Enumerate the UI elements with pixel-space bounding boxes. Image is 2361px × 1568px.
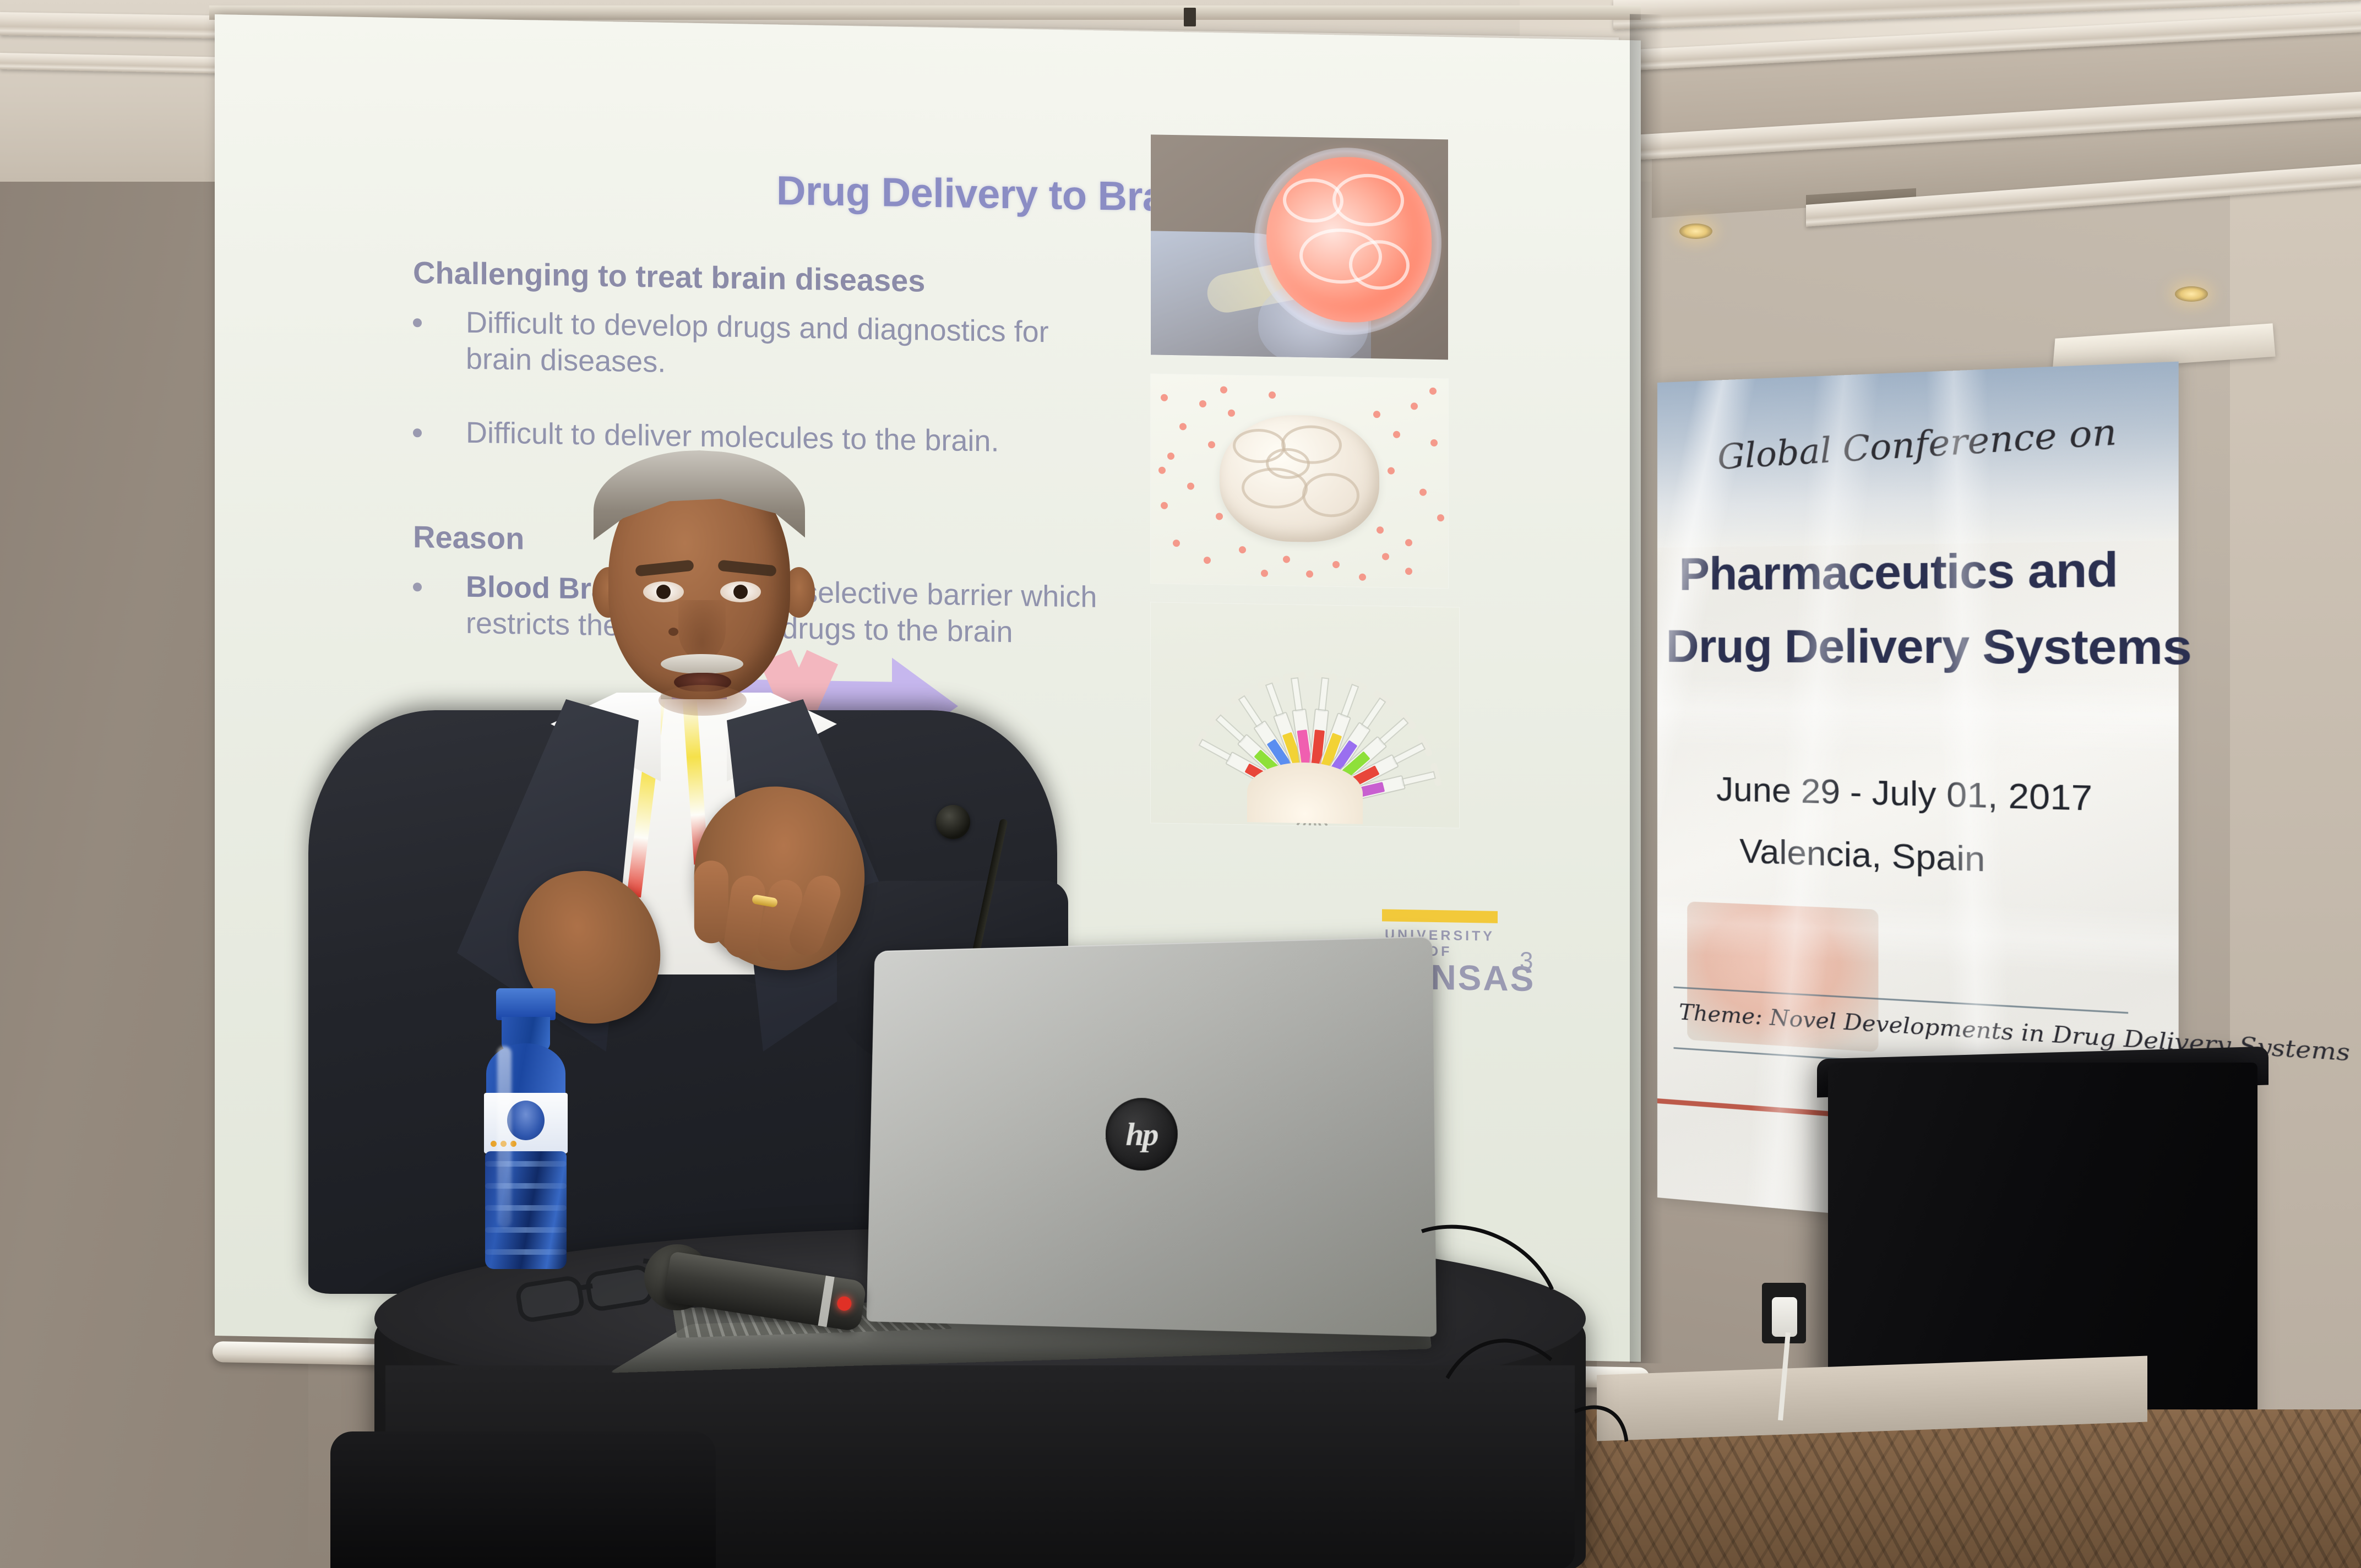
slide-bullet-1: Difficult to develop drugs and diagnosti…: [413, 304, 1096, 388]
mustache: [661, 654, 743, 674]
projector-screen-bracket: [1184, 8, 1196, 26]
banner-title-line-1: Pharmaceutics and: [1679, 541, 2118, 601]
remote-led-indicator: [836, 1295, 852, 1312]
chin: [659, 685, 747, 716]
banner-title-line-2: Drug Delivery Systems: [1666, 618, 2191, 676]
facial-mole: [668, 628, 678, 636]
remote-band: [818, 1276, 835, 1327]
bullet-dot-icon: [413, 428, 422, 437]
hp-logo-icon: hp: [1105, 1098, 1178, 1170]
syringes-fan-image: [1151, 602, 1459, 827]
laptop-lid[interactable]: hp: [867, 936, 1437, 1337]
slide-number: 3: [1520, 947, 1533, 974]
slide-heading-challenging: Challenging to treat brain diseases: [413, 254, 925, 298]
bullet-dot-icon: [413, 318, 422, 327]
white-brain-shape: [1220, 414, 1379, 543]
ceiling-downlight-2: [2175, 286, 2208, 302]
head-brain-anatomy-image: [1151, 134, 1448, 360]
ceiling-downlight-1: [1679, 224, 1712, 239]
eye-right: [720, 581, 761, 602]
slide-bullet-2: Difficult to deliver molecules to the br…: [413, 414, 1096, 461]
nose: [678, 600, 726, 661]
microphone-head-icon: [936, 805, 970, 839]
bottle-highlight: [497, 1046, 512, 1228]
logo-yellow-bar: [1382, 909, 1498, 923]
conference-room-photo: Drug Delivery to Brain Challenging to tr…: [0, 0, 2361, 1568]
bottle-cap: [496, 988, 556, 1020]
slide-bullet-1-text: Difficult to develop drugs and diagnosti…: [466, 305, 1096, 388]
bottle-label-emblem: [507, 1101, 545, 1140]
chair[interactable]: [330, 1431, 716, 1568]
power-plug: [1772, 1297, 1797, 1337]
water-bottle[interactable]: [482, 988, 570, 1269]
brain-with-particles-image: [1151, 374, 1448, 588]
slide-title: Drug Delivery to Brain: [776, 167, 1200, 221]
glasses-lens-left: [514, 1275, 586, 1324]
eye-left: [643, 581, 684, 602]
bottle-label: [484, 1093, 568, 1153]
hp-logo-text: hp: [1125, 1118, 1157, 1151]
